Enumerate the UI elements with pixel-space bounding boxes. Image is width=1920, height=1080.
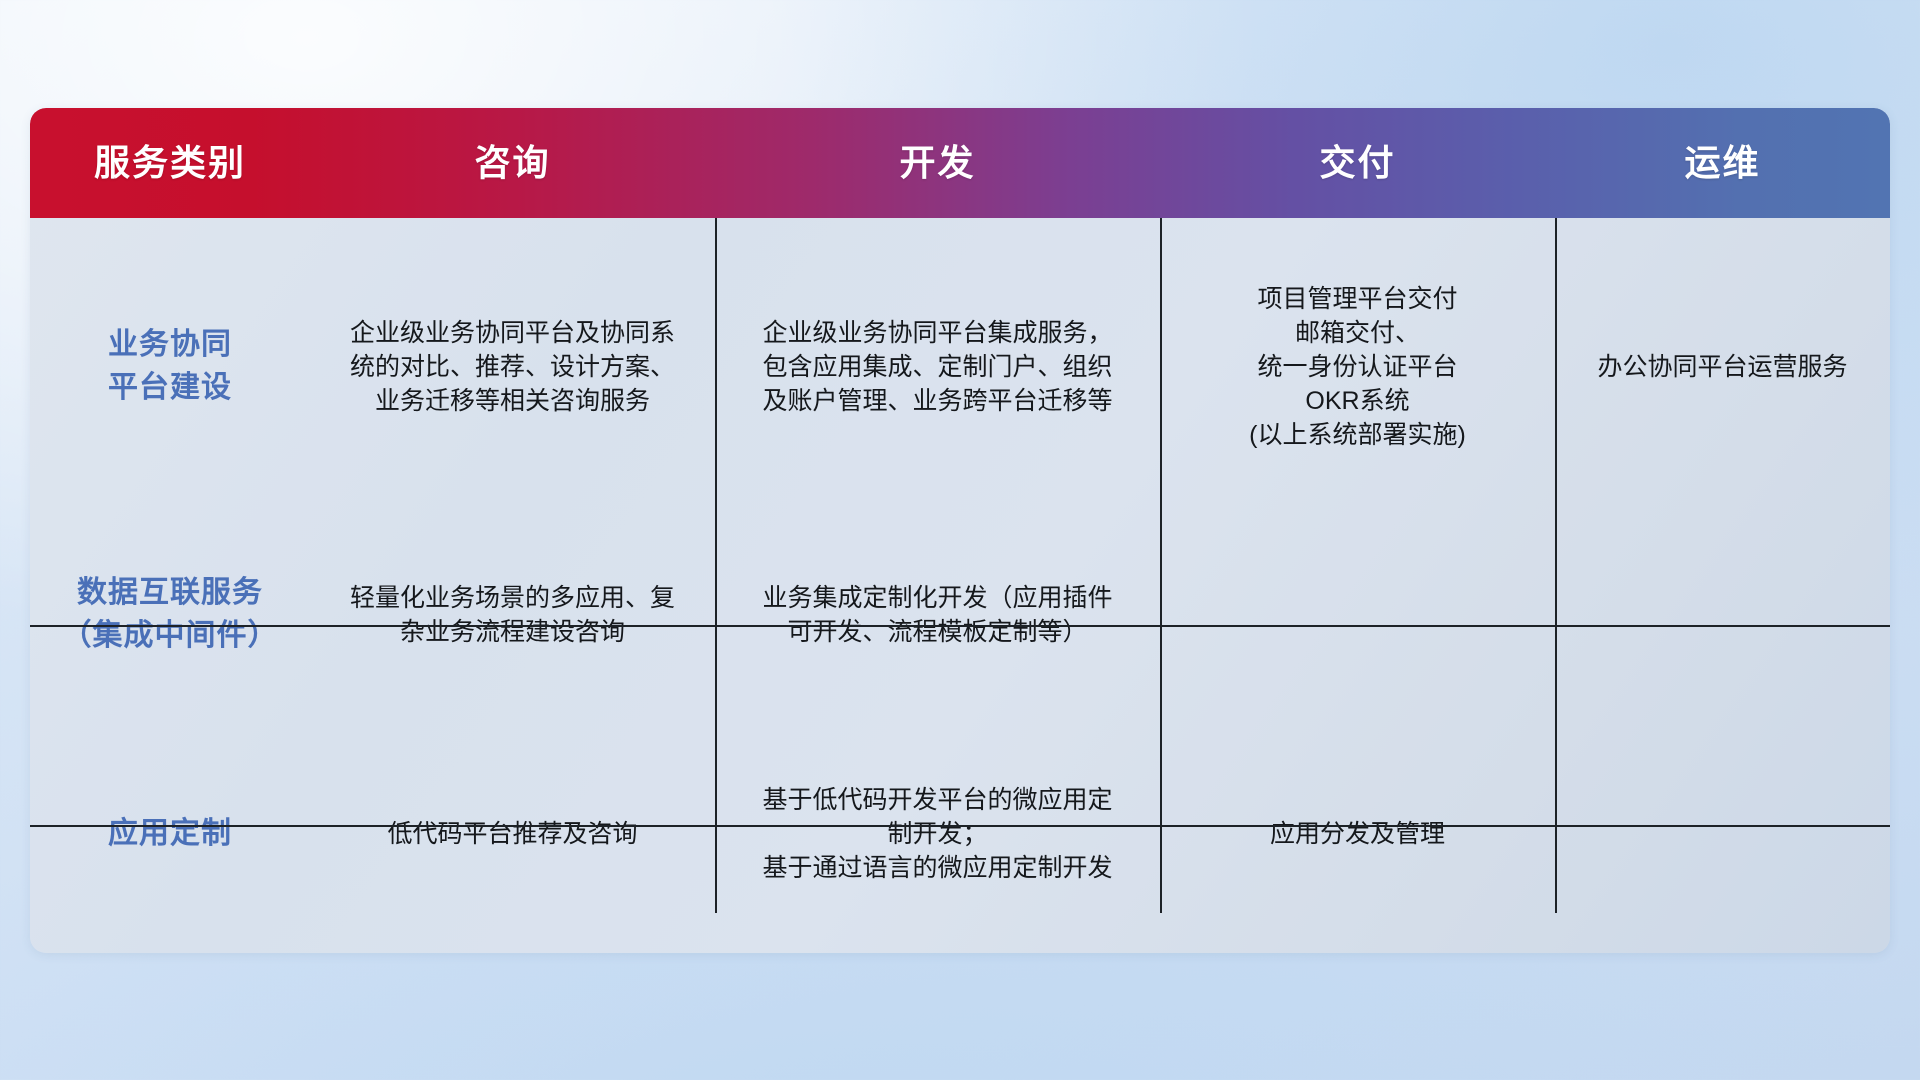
cell-r3-consulting: 低代码平台推荐及咨询: [310, 715, 715, 953]
cell-r3-operations: [1555, 715, 1890, 953]
cell-r2-consulting: 轻量化业务场景的多应用、复 杂业务流程建设咨询: [310, 515, 715, 715]
cell-r1-operations: 办公协同平台运营服务: [1555, 218, 1890, 515]
column-header-development: 开发: [715, 145, 1160, 181]
table-body: 业务协同 平台建设 企业级业务协同平台及协同系 统的对比、推荐、设计方案、 业务…: [30, 218, 1890, 953]
cell-r1-development: 企业级业务协同平台集成服务， 包含应用集成、定制门户、组织 及账户管理、业务跨平…: [715, 218, 1160, 515]
column-header-operations: 运维: [1555, 145, 1890, 181]
column-header-consulting: 咨询: [310, 145, 715, 181]
cell-r2-delivery: [1160, 515, 1555, 715]
row-label-data-interconnect: 数据互联服务 （集成中间件）: [30, 515, 310, 715]
cell-r1-delivery: 项目管理平台交付 邮箱交付、 统一身份认证平台 OKR系统 (以上系统部署实施): [1160, 218, 1555, 515]
column-header-delivery: 交付: [1160, 145, 1555, 181]
cell-r3-development: 基于低代码开发平台的微应用定 制开发； 基于通过语言的微应用定制开发: [715, 715, 1160, 953]
service-matrix-table: 服务类别 咨询 开发 交付 运维 业务协同 平台建设 企业级业务协同平台及协同系…: [30, 108, 1890, 953]
cell-r1-consulting: 企业级业务协同平台及协同系 统的对比、推荐、设计方案、 业务迁移等相关咨询服务: [310, 218, 715, 515]
row-label-business-collaboration: 业务协同 平台建设: [30, 218, 310, 515]
cell-r2-development: 业务集成定制化开发（应用插件 可开发、流程模板定制等）: [715, 515, 1160, 715]
column-header-service-category: 服务类别: [30, 145, 310, 181]
cell-r3-delivery: 应用分发及管理: [1160, 715, 1555, 953]
table-header-row: 服务类别 咨询 开发 交付 运维: [30, 108, 1890, 218]
row-label-app-customization: 应用定制: [30, 715, 310, 953]
cell-r2-operations: [1555, 515, 1890, 715]
